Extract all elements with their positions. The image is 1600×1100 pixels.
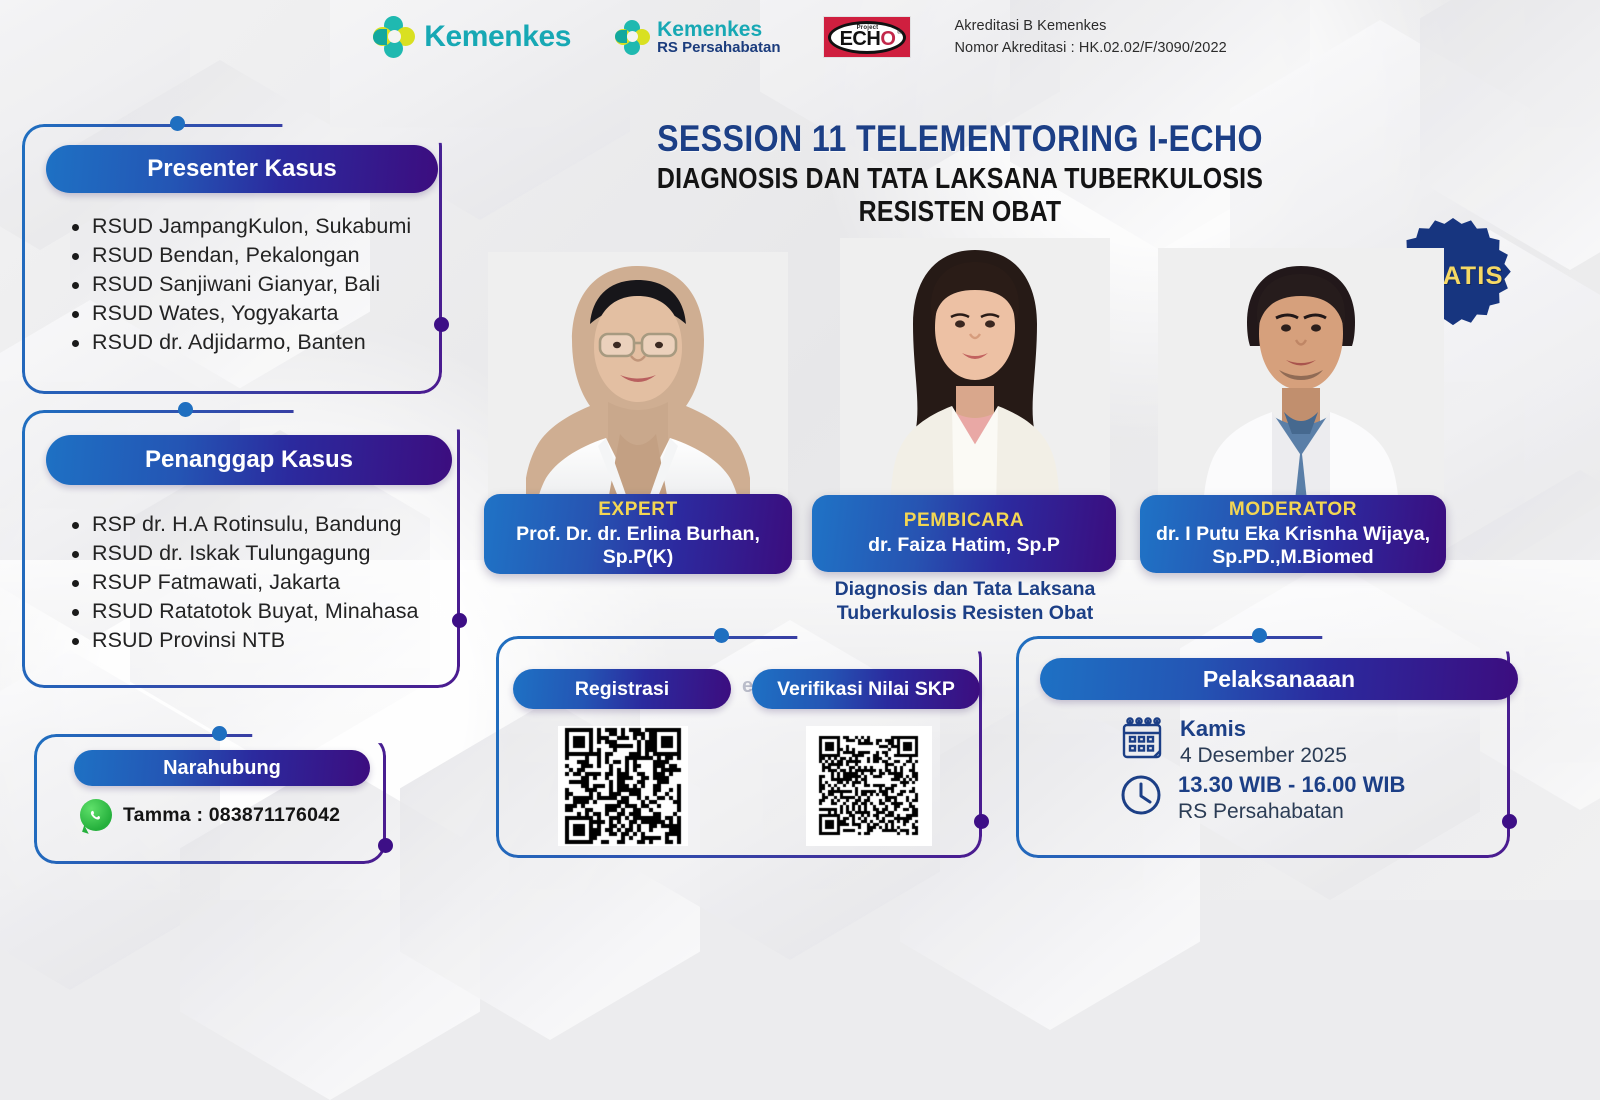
kemenkes-rsp-logo: Kemenkes RS Persahabatan: [615, 19, 780, 56]
list-item: RSUP Fatmawati, Jakarta: [66, 568, 466, 597]
portrait-faiza-hatim: [840, 238, 1110, 513]
registrasi-label: Registrasi: [575, 678, 669, 701]
list-item: RSUD dr. Adjidarmo, Banten: [66, 328, 456, 357]
pelaksanaan-time: 13.30 WIB - 16.00 WIB: [1178, 772, 1405, 798]
kemenkes-rsp-line2: RS Persahabatan: [657, 40, 780, 55]
list-item: RSUD JampangKulon, Sukabumi: [66, 212, 456, 241]
logo-bar: Kemenkes Kemenkes RS Persahabatan Projec…: [0, 0, 1600, 74]
accreditation-line-1: Akreditasi B Kemenkes: [954, 15, 1226, 37]
whatsapp-icon: [80, 799, 112, 831]
registration-frame-dot-right: [974, 814, 989, 829]
pelaksanaan-panel-title: Pelaksanaaan: [1040, 658, 1518, 700]
narahubung-contact-label: Tamma : 083871176042: [123, 804, 340, 827]
list-item: RSUD Wates, Yogyakarta: [66, 299, 456, 328]
pelaksanaan-frame-dot-right: [1502, 814, 1517, 829]
speaker-card-moderator: MODERATOR dr. I Putu Eka Krisnha Wijaya,…: [1140, 495, 1446, 573]
kemenkes-logo: Kemenkes: [373, 16, 571, 58]
pelaksanaan-panel-title-label: Pelaksanaaan: [1203, 666, 1355, 693]
presenter-panel-title-label: Presenter Kasus: [147, 155, 336, 183]
calendar-icon: [1118, 716, 1166, 769]
speaker-card-pembicara: PEMBICARA dr. Faiza Hatim, Sp.P: [812, 495, 1116, 572]
presenter-frame-dot-top: [170, 116, 185, 131]
narahubung-panel-title: Narahubung: [74, 750, 370, 786]
registration-frame-dot-top: [714, 628, 729, 643]
speaker-name-pembicara: dr. Faiza Hatim, Sp.P: [812, 534, 1116, 557]
accreditation-block: Akreditasi B Kemenkes Nomor Akreditasi :…: [954, 15, 1226, 60]
narahubung-frame-dot-right: [378, 838, 393, 853]
kemenkes-rsp-flower-icon: [615, 20, 649, 54]
kemenkes-flower-icon: [373, 16, 415, 58]
list-item: RSUD Ratatotok Buyat, Minahasa: [66, 597, 466, 626]
project-echo-ech: ECH: [840, 28, 881, 50]
presenter-panel-list: RSUD JampangKulon, Sukabumi RSUD Bendan,…: [66, 212, 456, 357]
speaker-role-expert: EXPERT: [484, 499, 792, 521]
pelaksanaan-date: 4 Desember 2025: [1180, 743, 1347, 768]
pelaksanaan-date-row: Kamis 4 Desember 2025: [1118, 716, 1347, 769]
pelaksanaan-frame-dot-top: [1252, 628, 1267, 643]
pelaksanaan-day: Kamis: [1180, 716, 1347, 742]
speaker-card-expert: EXPERT Prof. Dr. dr. Erlina Burhan, Sp.P…: [484, 494, 792, 574]
clock-icon: [1118, 772, 1164, 823]
narahubung-panel-title-label: Narahubung: [163, 757, 281, 780]
penanggap-frame-dot-top: [178, 402, 193, 417]
project-echo-logo: Project ECHO ®: [824, 17, 910, 57]
speaker-role-moderator: MODERATOR: [1140, 499, 1446, 521]
qr-code-verifikasi[interactable]: [806, 726, 932, 846]
list-item: RSUD Provinsi NTB: [66, 626, 466, 655]
list-item: RSUD dr. Iskak Tulungagung: [66, 539, 466, 568]
narahubung-contact[interactable]: Tamma : 083871176042: [80, 799, 340, 831]
qr-code-registrasi[interactable]: [558, 726, 688, 846]
portrait-i-putu-eka: [1158, 248, 1444, 510]
registrasi-label-pill: Registrasi: [513, 669, 731, 709]
headline-line-1: SESSION 11 TELEMENTORING I-ECHO: [647, 118, 1273, 160]
penanggap-panel-title-label: Penanggap Kasus: [145, 446, 353, 474]
pelaksanaan-venue: RS Persahabatan: [1178, 799, 1405, 824]
speaker-name-expert: Prof. Dr. dr. Erlina Burhan, Sp.P(K): [484, 523, 792, 569]
verifikasi-label: Verifikasi Nilai SKP: [777, 678, 955, 701]
list-item: RSUD Bendan, Pekalongan: [66, 241, 456, 270]
presenter-panel-title: Presenter Kasus: [46, 145, 438, 193]
speaker-topic: Diagnosis dan Tata Laksana Tuberkulosis …: [800, 578, 1130, 626]
pelaksanaan-time-row: 13.30 WIB - 16.00 WIB RS Persahabatan: [1118, 772, 1405, 824]
project-echo-small-text: Project: [857, 25, 879, 31]
project-echo-reg: ®: [897, 30, 901, 36]
narahubung-frame-dot-top: [212, 726, 227, 741]
kemenkes-rsp-line1: Kemenkes: [657, 19, 780, 40]
verifikasi-label-pill: Verifikasi Nilai SKP: [752, 669, 980, 709]
list-item: RSUD Sanjiwani Gianyar, Bali: [66, 270, 456, 299]
list-item: RSP dr. H.A Rotinsulu, Bandung: [66, 510, 466, 539]
page-title: SESSION 11 TELEMENTORING I-ECHO DIAGNOSI…: [600, 118, 1320, 229]
portrait-erlina-burhan: [488, 252, 788, 512]
penanggap-panel-list: RSP dr. H.A Rotinsulu, Bandung RSUD dr. …: [66, 510, 466, 655]
kemenkes-logo-text: Kemenkes: [424, 20, 571, 54]
accreditation-line-2: Nomor Akreditasi : HK.02.02/F/3090/2022: [954, 37, 1226, 59]
speaker-name-moderator: dr. I Putu Eka Krisnha Wijaya, Sp.PD.,M.…: [1140, 523, 1446, 569]
speaker-role-pembicara: PEMBICARA: [812, 510, 1116, 532]
project-echo-o: O: [880, 28, 895, 50]
headline-line-2: DIAGNOSIS DAN TATA LAKSANA TUBERKULOSIS …: [650, 163, 1269, 229]
penanggap-panel-title: Penanggap Kasus: [46, 435, 452, 485]
